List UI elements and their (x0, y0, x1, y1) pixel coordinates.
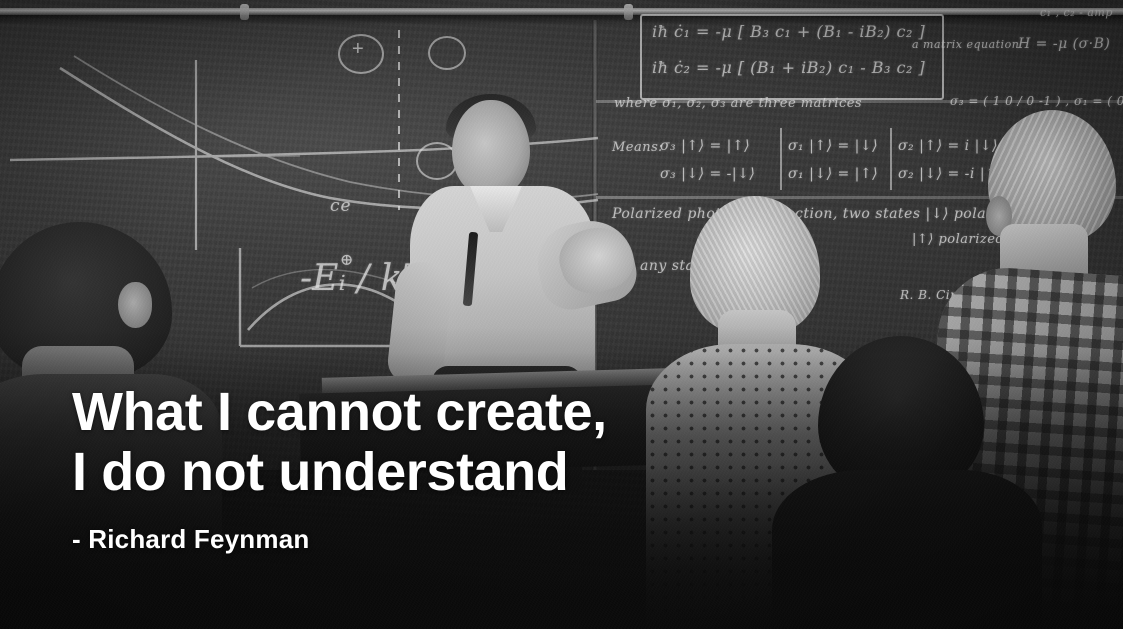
quote-attribution: - Richard Feynman (72, 524, 309, 555)
quote-block: What I cannot create, I do not understan… (72, 382, 792, 502)
quote-line-2: I do not understand (72, 442, 792, 502)
quote-line-1: What I cannot create, (72, 382, 792, 442)
quote-poster: ce -Eᵢ / kT ⊕ + + iħ ċ₁ = -μ [ B₃ c₁ + (… (0, 0, 1123, 629)
